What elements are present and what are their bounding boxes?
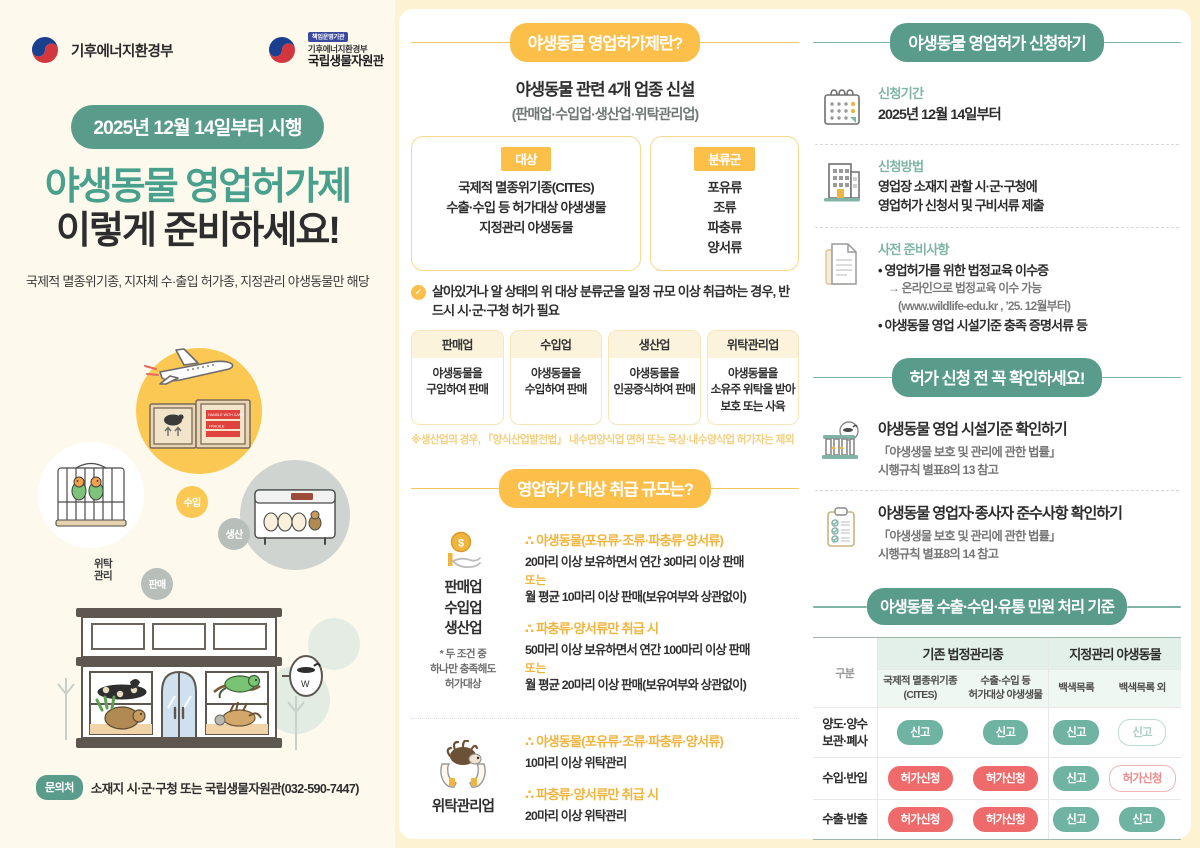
business-type-head: 수입업 xyxy=(511,331,602,358)
scale-item-head-text: 파충류·양서류만 취급 시 xyxy=(536,787,658,802)
scale-group-left-2: 위탁관리업 xyxy=(411,731,515,838)
scale-item-line1: 10마리 이상 위탁관리 xyxy=(525,754,799,772)
section-title-check: 허가 신청 전 꼭 확인하세요! xyxy=(892,358,1103,397)
status-badge: 신고 xyxy=(1053,766,1099,791)
section-heading-apply: 야생동물 영업허가 신청하기 xyxy=(813,23,1181,62)
apply-period-value: 2025년 12월 14일부터 xyxy=(878,105,1179,126)
criteria-table: 구분 기존 법정관리종 지정관리 야생동물 국제적 멸종위기종 (CITES) … xyxy=(813,637,1181,840)
apply-period-label: 신청기간 xyxy=(878,83,1179,102)
table-cell: 신고 xyxy=(1049,758,1104,800)
business-type-body-l1: 야생동물을 xyxy=(513,366,600,382)
scale-item-line1: 20마리 이상 위탁관리 xyxy=(525,807,799,825)
table-cell: 허가신청 xyxy=(877,800,963,840)
group-box: 분류군 포유류 조류 파충류 양서류 xyxy=(650,136,799,271)
business-type-body-l1: 야생동물을 xyxy=(414,366,501,382)
permit-requirement-note: ✓ 살아있거나 알 상태의 위 대상 분류군을 일정 규모 이상 취급하는 경우… xyxy=(411,283,799,321)
table-row: 양도·양수 보관·폐사 신고 신고 신고 신고 xyxy=(813,708,1181,758)
tag-import: 수입 xyxy=(176,486,208,518)
logo-row: 기후에너지환경부 책임운영기관 기후에너지환경부 국립생물자원관 xyxy=(0,0,395,69)
airplane-icon xyxy=(140,342,240,388)
table-cell: 신고 xyxy=(1103,800,1181,840)
group-line-3: 파충류 xyxy=(659,218,790,238)
ministry-name: 기후에너지환경부 xyxy=(71,40,173,61)
table-cell: 허가신청 xyxy=(963,800,1049,840)
sub-header-1-l1: 국제적 멸종위기종 xyxy=(880,675,961,689)
content-card: 야생동물 영업허가제란? 야생동물 관련 4개 업종 신설 (판매업·수입업·생… xyxy=(399,9,1191,839)
group-box-tag: 분류군 xyxy=(694,147,754,171)
scale-item-head-text: 야생동물(포유류·조류·파충류·양서류) xyxy=(536,734,723,749)
table-sub-header-4: 백색목록 외 xyxy=(1103,670,1181,708)
apply-method-body: 신청방법 영업장 소재지 관할 시·군·구청에 영업허가 신청서 및 구비서류 … xyxy=(878,156,1179,216)
section-heading-criteria: 야생동물 수출·수입·유통 민원 처리 기준 xyxy=(813,588,1181,625)
scale-item-line2: 월 평균 10마리 이상 판매(보유여부와 상관없이) xyxy=(525,588,799,606)
scale-group-names-2: 위탁관리업 xyxy=(411,797,515,818)
status-badge: 허가신청 xyxy=(888,807,953,832)
business-type-body: 야생동물을 수입하여 판매 xyxy=(511,358,602,408)
group-line-4: 양서류 xyxy=(659,238,790,258)
new-business-subtitle: (판매업·수입업·생산업·위탁관리업) xyxy=(411,104,799,124)
production-exclusion-note: ※생산업의 경우, 「양식산업발전법」 내수면양식업 면허 또는 육상·내수양식… xyxy=(411,433,799,449)
business-type-body: 야생동물을 구입하여 판매 xyxy=(412,358,503,408)
clipboard-check-icon xyxy=(817,502,867,552)
taegeuk-icon-2 xyxy=(265,33,299,67)
page-title-line1: 야생동물 영업허가제 xyxy=(0,165,395,209)
table-gubun-label: 구분 xyxy=(813,638,877,708)
business-type-card: 위탁관리업 야생동물을 소유주 위탁을 받아 보호 또는 사육 xyxy=(707,330,800,425)
apply-period-body: 신청기간 2025년 12월 14일부터 xyxy=(878,83,1179,126)
scale-item-line1: 20마리 이상 보유하면서 연간 30마리 이상 판매 xyxy=(525,553,799,571)
business-type-card: 판매업 야생동물을 구입하여 판매 xyxy=(411,330,504,425)
svg-text:$: $ xyxy=(458,538,464,550)
scale-name-0: 판매업 xyxy=(411,578,515,599)
table-sub-header-2: 수출·수입 등 허가대상 야생생물 xyxy=(963,670,1049,708)
table-cell: 신고 xyxy=(963,708,1049,758)
compliance-item: 야생동물 영업자·종사자 준수사항 확인하기 「야생생물 보호 및 관리에 관한… xyxy=(813,491,1181,574)
target-and-group-boxes: 대상 국제적 멸종위기종(CITES) 수출·수입 등 허가대상 야생생물 지정… xyxy=(411,136,799,271)
apply-method-line1: 영업장 소재지 관할 시·군·구청에 xyxy=(878,178,1179,197)
target-box-tag: 대상 xyxy=(501,147,551,171)
business-type-head: 생산업 xyxy=(609,331,700,358)
business-type-body-l1: 야생동물을 xyxy=(710,366,797,382)
taegeuk-icon xyxy=(28,33,62,67)
status-badge: 신고 xyxy=(1053,807,1099,832)
scale-item-head-text: 파충류·양서류만 취급 시 xyxy=(536,621,658,636)
heading-line-left xyxy=(411,42,510,44)
prep-body: 사전 준비사항 • 영업허가를 위한 법정교육 이수증 → 온라인으로 법정교육… xyxy=(878,239,1179,335)
scale-item: ∴ 야생동물(포유류·조류·파충류·양서류) 10마리 이상 위탁관리 xyxy=(525,731,799,772)
contact-footer: 문의처 소재지 시·군·구청 또는 국립생물자원관(032-590-7447) xyxy=(36,775,359,800)
svg-text:W: W xyxy=(301,679,310,689)
prep-bullet-2: • 야생동물 영업 시설기준 충족 증명서류 등 xyxy=(878,316,1179,336)
business-type-body-l2: 인공증식하여 판매 xyxy=(611,382,698,398)
apply-method-line2: 영업허가 신청서 및 구비서류 제출 xyxy=(878,197,1179,216)
status-badge: 허가신청 xyxy=(1109,765,1176,792)
scale-item: ∴ 파충류·양서류만 취급 시 50마리 이상 보유하면서 연간 100마리 이… xyxy=(525,618,799,694)
heading-line-left-5 xyxy=(813,606,867,608)
table-row: 수출·반출 허가신청 허가신청 신고 신고 xyxy=(813,800,1181,840)
scale-group-left: $ 판매업 수입업 생산업 xyxy=(411,530,515,706)
scale-item-head: ∴ 파충류·양서류만 취급 시 xyxy=(525,618,799,637)
table-cell: 신고 xyxy=(1103,708,1181,758)
calendar-icon xyxy=(817,83,867,133)
table-row-label: 수입·반입 xyxy=(813,758,877,800)
scale-item-line2: 월 평균 20마리 이상 판매(보유여부와 상관없이) xyxy=(525,676,799,694)
table-group-header-1: 기존 법정관리종 xyxy=(877,638,1049,670)
scale-group-right-2: ∴ 야생동물(포유류·조류·파충류·양서류) 10마리 이상 위탁관리 ∴ 파충… xyxy=(525,731,799,838)
table-cell: 허가신청 xyxy=(1103,758,1181,800)
business-type-card: 생산업 야생동물을 인공증식하여 판매 xyxy=(608,330,701,425)
business-type-body-l1: 야생동물을 xyxy=(611,366,698,382)
facility-standard-sub2: 시행규칙 별표8의 13 참고 xyxy=(878,461,1179,479)
section-title-criteria: 야생동물 수출·수입·유통 민원 처리 기준 xyxy=(867,588,1127,625)
business-type-body-l2: 수입하여 판매 xyxy=(513,382,600,398)
check-icon: ✓ xyxy=(411,285,426,300)
shipping-crates-icon: HANDLE WITH CARE FRAGILE xyxy=(146,392,258,456)
heading-line-right-4 xyxy=(1102,377,1181,379)
institute-logo: 책임운영기관 기후에너지환경부 국립생물자원관 xyxy=(265,32,384,69)
status-badge: 허가신청 xyxy=(888,766,953,791)
heading-line-right-5 xyxy=(1127,606,1181,608)
apply-method-label: 신청방법 xyxy=(878,156,1179,175)
section-heading-scale: 영업허가 대상 취급 규모는? xyxy=(411,469,799,508)
table-header-row-1: 구분 기존 법정관리종 지정관리 야생동물 xyxy=(813,638,1181,670)
table-cell: 신고 xyxy=(877,708,963,758)
compliance-body: 야생동물 영업자·종사자 준수사항 확인하기 「야생생물 보호 및 관리에 관한… xyxy=(878,502,1179,563)
status-badge: 허가신청 xyxy=(973,766,1038,791)
status-badge: 허가신청 xyxy=(973,807,1038,832)
contact-badge: 문의처 xyxy=(36,775,83,800)
scale-group-trust: 위탁관리업 ∴ 야생동물(포유류·조류·파충류·양서류) 10마리 이상 위탁관… xyxy=(411,719,799,838)
prep-bullet-1-sub-2: (www.wildlife-edu.kr , ’25. 12월부터) xyxy=(878,298,1179,316)
status-badge: 신고 xyxy=(1119,807,1165,832)
scale-item-head-text: 야생동물(포유류·조류·파충류·양서류) xyxy=(536,533,723,548)
scale-item-or: 또는 xyxy=(525,660,799,676)
section-heading-check: 허가 신청 전 꼭 확인하세요! xyxy=(813,358,1181,397)
heading-line-right xyxy=(700,42,799,44)
new-business-title: 야생동물 관련 4개 업종 신설 xyxy=(411,76,799,100)
table-group-header-2: 지정관리 야생동물 xyxy=(1049,638,1181,670)
table-cell: 허가신청 xyxy=(963,758,1049,800)
page-title-line2: 이렇게 준비하세요! xyxy=(0,209,395,253)
document-icon xyxy=(817,239,867,289)
scale-group-names: 판매업 수입업 생산업 xyxy=(411,578,515,640)
contact-text: 소재지 시·군·구청 또는 국립생물자원관(032-590-7447) xyxy=(91,778,359,797)
target-line-1: 국제적 멸종위기종(CITES) xyxy=(420,178,632,198)
scale-name-trust: 위탁관리업 xyxy=(411,797,515,818)
tag-sale: 판매 xyxy=(141,568,173,600)
sub-header-2-l2: 허가대상 야생생물 xyxy=(965,689,1046,703)
apply-period-item: 신청기간 2025년 12월 14일부터 xyxy=(813,72,1181,144)
business-type-card: 수입업 야생동물을 수입하여 판매 xyxy=(510,330,603,425)
coin-hand-icon: $ xyxy=(411,530,515,574)
scale-section: 영업허가 대상 취급 규모는? $ xyxy=(411,455,799,838)
svg-text:FRAGILE: FRAGILE xyxy=(209,424,225,428)
sub-header-1-l2: (CITES) xyxy=(880,689,961,703)
target-line-2: 수출·수입 등 허가대상 야생생물 xyxy=(420,198,632,218)
scale-note-l3: 허가대상 xyxy=(411,677,515,692)
building-icon xyxy=(817,156,867,206)
business-type-head: 위탁관리업 xyxy=(708,331,799,358)
scale-item: ∴ 야생동물(포유류·조류·파충류·양서류) 20마리 이상 보유하면서 연간 … xyxy=(525,530,799,606)
compliance-sub2: 시행규칙 별표8의 14 참고 xyxy=(878,545,1179,563)
heading-line-left-3 xyxy=(813,42,890,44)
business-type-body: 야생동물을 소유주 위탁을 받아 보호 또는 사육 xyxy=(708,358,799,424)
group-line-2: 조류 xyxy=(659,198,790,218)
left-column: 기후에너지환경부 책임운영기관 기후에너지환경부 국립생물자원관 xyxy=(0,0,395,848)
business-type-body: 야생동물을 인공증식하여 판매 xyxy=(609,358,700,408)
tag-trust-line2: 관리 xyxy=(82,570,124,583)
heading-line-left-2 xyxy=(411,488,499,490)
heading-line-left-4 xyxy=(813,377,892,379)
scale-item-head: ∴ 야생동물(포유류·조류·파충류·양서류) xyxy=(525,530,799,549)
scale-group-right: ∴ 야생동물(포유류·조류·파충류·양서류) 20마리 이상 보유하면서 연간 … xyxy=(525,530,799,706)
facility-standard-item: 야생동물 영업 시설기준 확인하기 「야생생물 보호 및 관리에 관한 법률」 … xyxy=(813,407,1181,490)
facility-standard-sub1: 「야생생물 보호 및 관리에 관한 법률」 xyxy=(878,443,1179,461)
table-row-label: 수출·반출 xyxy=(813,800,877,840)
effective-date-badge: 2025년 12월 14일부터 시행 xyxy=(71,105,323,149)
business-type-head: 판매업 xyxy=(412,331,503,358)
table-sub-header-1: 국제적 멸종위기종 (CITES) xyxy=(877,670,963,708)
scale-note-l2: 하나만 충족해도 xyxy=(411,662,515,677)
scale-item-line1: 50마리 이상 보유하면서 연간 100마리 이상 판매 xyxy=(525,641,799,659)
tag-trust-line1: 위탁 xyxy=(82,558,124,571)
scale-item-head: ∴ 파충류·양서류만 취급 시 xyxy=(525,784,799,803)
status-badge: 신고 xyxy=(983,720,1029,745)
tag-production: 생산 xyxy=(218,518,250,550)
section-title-what-is: 야생동물 영업허가제란? xyxy=(510,23,700,62)
svg-text:HANDLE WITH CARE: HANDLE WITH CARE xyxy=(208,413,244,417)
target-line-3: 지정관리 야생동물 xyxy=(420,218,632,238)
facility-standard-title: 야생동물 영업 시설기준 확인하기 xyxy=(878,418,1179,439)
table-cell: 신고 xyxy=(1049,708,1104,758)
scale-note-l1: * 두 조건 중 xyxy=(411,647,515,662)
prep-bullet-1: • 영업허가를 위한 법정교육 이수증 xyxy=(878,261,1179,281)
scale-name-1: 수입업 xyxy=(411,599,515,620)
sub-header-2-l1: 수출·수입 등 xyxy=(965,675,1046,689)
tag-trust: 위탁 관리 xyxy=(82,558,124,583)
birdcage-icon xyxy=(46,458,138,534)
section-title-scale: 영업허가 대상 취급 규모는? xyxy=(499,469,711,508)
business-type-row: 판매업 야생동물을 구입하여 판매 수입업 야생동물을 수입하여 판매 xyxy=(411,330,799,425)
heading-line-right-2 xyxy=(711,488,799,490)
permit-requirement-text: 살아있거나 알 상태의 위 대상 분류군을 일정 규모 이상 취급하는 경우, … xyxy=(432,283,799,321)
prep-item: 사전 준비사항 • 영업허가를 위한 법정교육 이수증 → 온라인으로 법정교육… xyxy=(813,228,1181,346)
heading-line-right-3 xyxy=(1104,42,1181,44)
row-label-l1: 양도·양수 xyxy=(815,716,875,732)
institute-badge: 책임운영기관 xyxy=(308,32,348,42)
row-label-l2: 보관·폐사 xyxy=(815,733,875,749)
scale-item: ∴ 파충류·양서류만 취급 시 20마리 이상 위탁관리 xyxy=(525,784,799,825)
ministry-logo: 기후에너지환경부 xyxy=(28,33,173,67)
incubator-icon xyxy=(247,478,343,550)
section-heading-what-is: 야생동물 영업허가제란? xyxy=(411,23,799,62)
facility-standard-body: 야생동물 영업 시설기준 확인하기 「야생생물 보호 및 관리에 관한 법률」 … xyxy=(878,418,1179,479)
page-subtitle: 국제적 멸종위기종, 지자체 수·출입 허가종, 지정관리 야생동물만 해당 xyxy=(0,271,395,290)
scale-group-sales: $ 판매업 수입업 생산업 xyxy=(411,518,799,706)
table-row: 수입·반입 허가신청 허가신청 신고 허가신청 xyxy=(813,758,1181,800)
scale-item-or: 또는 xyxy=(525,572,799,588)
right-panel: 야생동물 영업허가제란? 야생동물 관련 4개 업종 신설 (판매업·수입업·생… xyxy=(395,0,1200,848)
business-type-body-l3: 보호 또는 사육 xyxy=(710,399,797,415)
scale-item-head: ∴ 야생동물(포유류·조류·파충류·양서류) xyxy=(525,731,799,750)
status-badge: 신고 xyxy=(1053,720,1099,745)
prep-bullet-1-sub-1: → 온라인으로 법정교육 이수 가능 xyxy=(878,280,1179,298)
tag-sale-label: 판매 xyxy=(149,576,166,591)
right-column: 야생동물 영업허가 신청하기 xyxy=(807,23,1181,829)
business-type-body-l2: 구입하여 판매 xyxy=(414,382,501,398)
compliance-sub1: 「야생생물 보호 및 관리에 관한 법률」 xyxy=(878,527,1179,545)
apply-method-item: 신청방법 영업장 소재지 관할 시·군·구청에 영업허가 신청서 및 구비서류 … xyxy=(813,145,1181,227)
institute-parent: 기후에너지환경부 xyxy=(308,44,367,54)
table-row-label: 양도·양수 보관·폐사 xyxy=(813,708,877,758)
title-block: 2025년 12월 14일부터 시행 야생동물 영업허가제 이렇게 준비하세요!… xyxy=(0,105,395,290)
middle-column: 야생동물 영업허가제란? 야생동물 관련 4개 업종 신설 (판매업·수입업·생… xyxy=(411,23,799,829)
shop-icon xyxy=(817,418,867,468)
group-line-1: 포유류 xyxy=(659,178,790,198)
target-box: 대상 국제적 멸종위기종(CITES) 수출·수입 등 허가대상 야생생물 지정… xyxy=(411,136,641,271)
status-badge: 신고 xyxy=(1118,719,1166,746)
pet-shop-icon: W xyxy=(44,600,344,780)
hands-hedgehog-icon xyxy=(411,739,515,793)
table-sub-header-3: 백색목록 xyxy=(1049,670,1104,708)
illustration: HANDLE WITH CARE FRAGILE xyxy=(0,296,395,766)
table-cell: 신고 xyxy=(1049,800,1104,840)
table-cell: 허가신청 xyxy=(877,758,963,800)
prep-label: 사전 준비사항 xyxy=(878,239,1179,258)
compliance-title: 야생동물 영업자·종사자 준수사항 확인하기 xyxy=(878,502,1179,523)
institute-name: 국립생물자원관 xyxy=(308,54,384,69)
poster-root: 기후에너지환경부 책임운영기관 기후에너지환경부 국립생물자원관 xyxy=(0,0,1200,848)
status-badge: 신고 xyxy=(897,720,943,745)
business-type-body-l2: 소유주 위탁을 받아 xyxy=(710,382,797,398)
scale-name-2: 생산업 xyxy=(411,619,515,640)
section-title-apply: 야생동물 영업허가 신청하기 xyxy=(890,23,1103,62)
scale-group-note: * 두 조건 중 하나만 충족해도 허가대상 xyxy=(411,647,515,692)
